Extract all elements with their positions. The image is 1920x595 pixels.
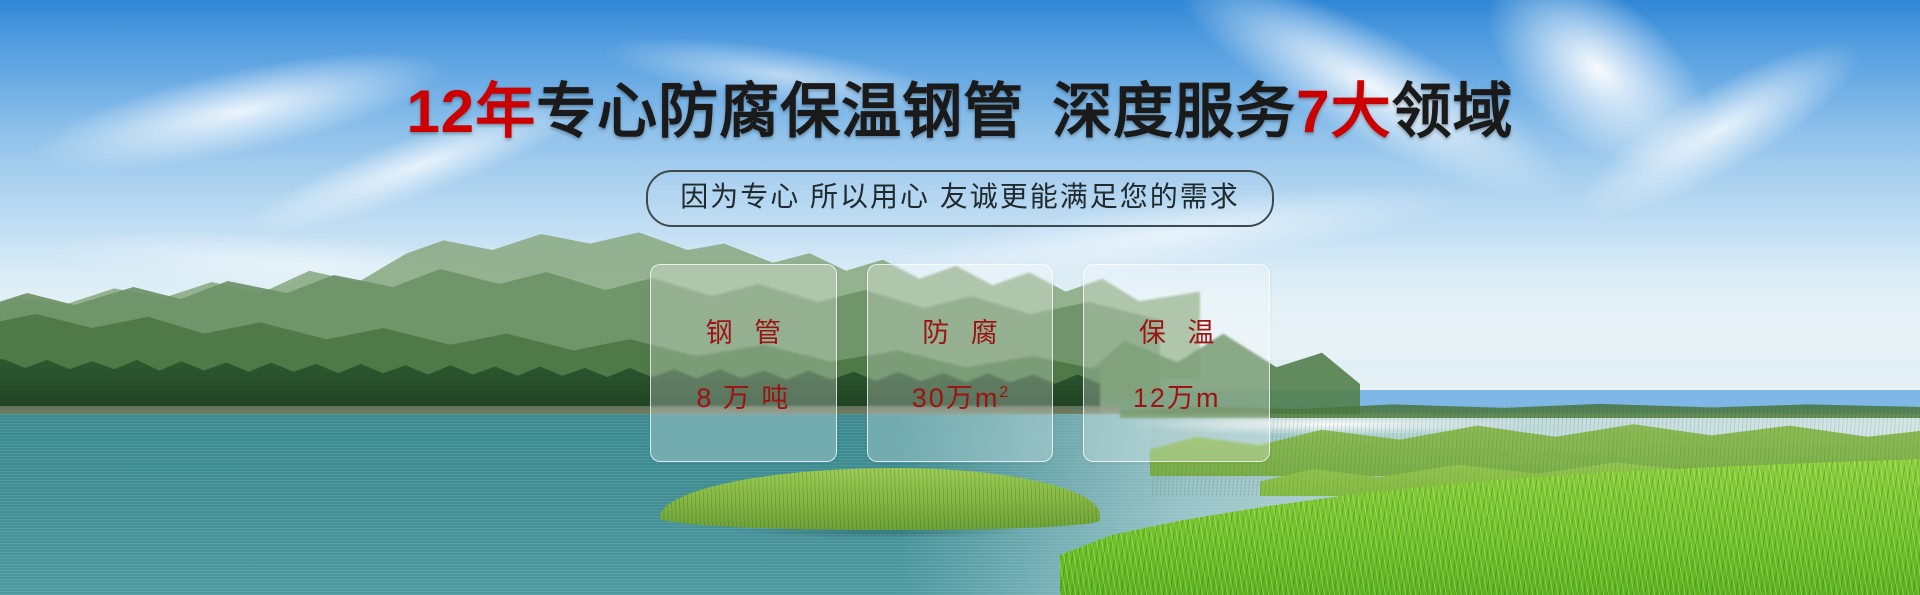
headline-fields-number: 7	[1296, 78, 1330, 145]
headline-fields-measure: 大	[1331, 78, 1392, 145]
headline-years-number: 12	[406, 78, 475, 145]
stat-card-value-superscript: 2	[999, 384, 1008, 401]
stat-card-value: 8 万 吨	[696, 376, 790, 415]
banner-headline: 12年专心防腐保温钢管深度服务7大领域	[0, 82, 1920, 142]
stat-card-title: 钢 管	[699, 311, 789, 350]
headline-specialty: 专心防腐保温钢管	[536, 78, 1024, 145]
headline-fields-word: 领域	[1392, 78, 1514, 145]
stat-card-title: 保 温	[1132, 311, 1222, 350]
banner-subtitle-wrapper: 因为专心 所以用心 友诚更能满足您的需求	[0, 170, 1920, 227]
stat-card-anticorrosion: 防 腐 30万m2	[867, 264, 1054, 462]
stat-card-value: 30万m2	[912, 376, 1008, 415]
headline-service: 深度服务	[1052, 78, 1296, 145]
stat-card-title: 防 腐	[915, 311, 1005, 350]
stat-card-value-main: 12万m	[1133, 383, 1221, 413]
banner-subtitle-pill: 因为专心 所以用心 友诚更能满足您的需求	[646, 170, 1274, 227]
stat-card-value-main: 30万m	[912, 383, 1000, 413]
stat-card-value: 12万m	[1133, 376, 1221, 415]
hero-banner: 12年专心防腐保温钢管深度服务7大领域 因为专心 所以用心 友诚更能满足您的需求…	[0, 0, 1920, 595]
stat-card-group: 钢 管 8 万 吨 防 腐 30万m2 保 温 12万m	[650, 264, 1270, 460]
stat-card-insulation: 保 温 12万m	[1083, 264, 1270, 462]
stat-card-steel-pipe: 钢 管 8 万 吨	[650, 264, 837, 462]
headline-years-unit: 年	[475, 78, 536, 145]
stat-card-value-main: 8 万 吨	[696, 383, 790, 413]
